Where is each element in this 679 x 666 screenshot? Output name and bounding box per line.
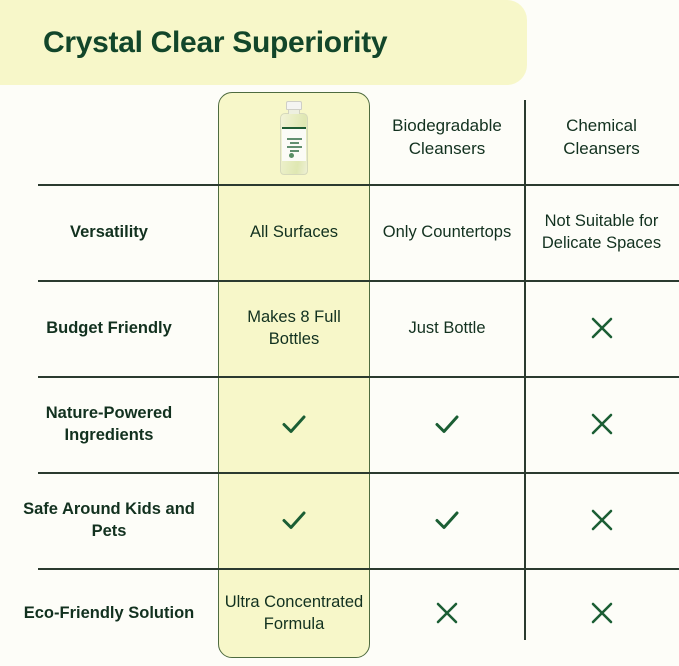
check-icon [430,503,464,537]
label-line [290,150,299,152]
label-line [290,142,299,144]
cross-icon [587,598,617,628]
row-value-biodegradable [370,472,524,568]
row-feature-label: Versatility [0,184,218,280]
table-row: Versatility All Surfaces Only Countertop… [0,184,679,280]
row-feature-label: Safe Around Kids and Pets [0,472,218,568]
row-value-biodegradable: Just Bottle [370,280,524,376]
table-row: Nature-Powered Ingredients [0,376,679,472]
row-value-product [218,376,370,472]
header-cell-product [218,92,370,184]
page-title: Crystal Clear Superiority [43,26,387,60]
table-header-row: Biodegradable Cleansers Chemical Cleanse… [0,92,679,184]
bottle-cap [286,101,302,110]
row-value-biodegradable: Only Countertops [370,184,524,280]
table-row: Safe Around Kids and Pets [0,472,679,568]
table-row: Eco-Friendly Solution Ultra Concentrated… [0,568,679,658]
row-value-chemical [524,568,679,658]
check-icon [430,407,464,441]
row-feature-label: Nature-Powered Ingredients [0,376,218,472]
check-icon [277,503,311,537]
cross-icon [587,409,617,439]
title-banner: Crystal Clear Superiority [0,0,527,85]
row-value-product: Makes 8 Full Bottles [218,280,370,376]
row-value-biodegradable [370,376,524,472]
label-line [287,146,302,148]
comparison-table: Biodegradable Cleansers Chemical Cleanse… [0,92,679,666]
header-cell-chemical: Chemical Cleansers [524,92,679,184]
product-bottle-image [277,101,311,175]
row-value-chemical [524,376,679,472]
cross-icon [587,313,617,343]
row-feature-label: Budget Friendly [0,280,218,376]
row-value-chemical: Not Suitable for Delicate Spaces [524,184,679,280]
label-line [287,138,302,140]
row-value-chemical [524,280,679,376]
bottle-label [282,127,306,161]
cross-icon [432,598,462,628]
row-value-product [218,472,370,568]
label-seal-icon [289,153,294,158]
table-row: Budget Friendly Makes 8 Full Bottles Jus… [0,280,679,376]
cross-icon [587,505,617,535]
row-feature-label: Eco-Friendly Solution [0,568,218,658]
row-value-biodegradable [370,568,524,658]
check-icon [277,407,311,441]
header-cell-biodegradable: Biodegradable Cleansers [370,92,524,184]
header-cell-blank [0,92,218,184]
row-value-product: All Surfaces [218,184,370,280]
row-value-chemical [524,472,679,568]
row-value-product: Ultra Concentrated Formula [218,568,370,658]
